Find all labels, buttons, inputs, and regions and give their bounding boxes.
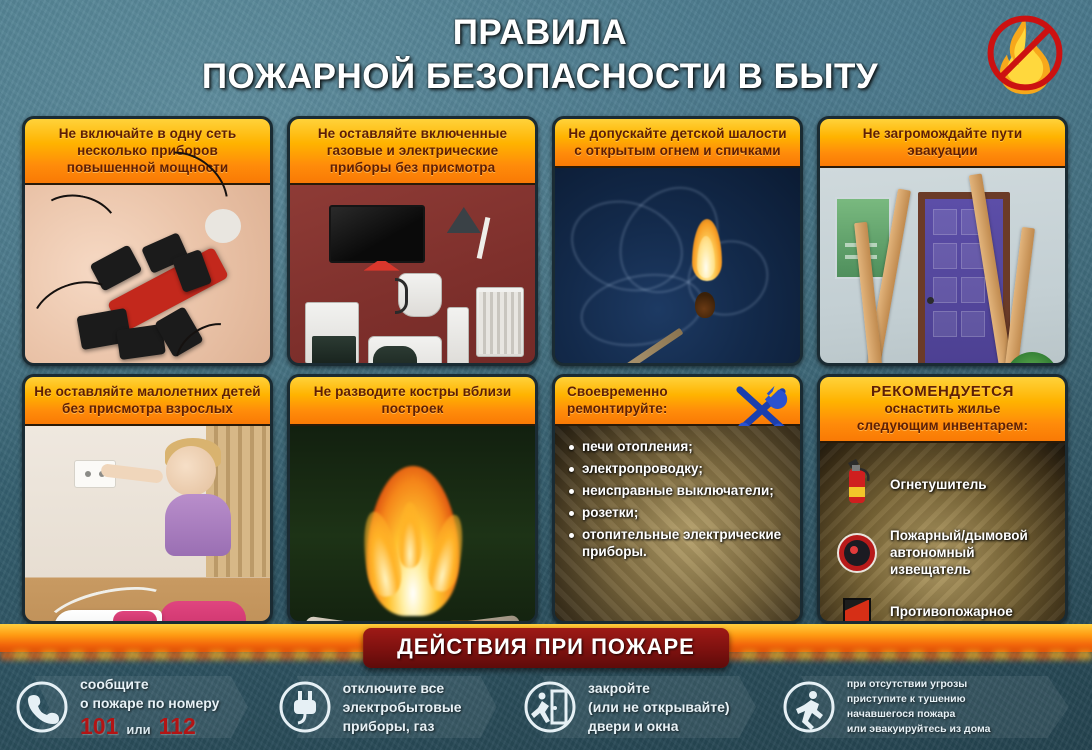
bullet-icon <box>569 533 574 538</box>
exit-door-icon <box>522 679 578 735</box>
card-title: Не загромождайте пути эвакуации <box>820 119 1065 168</box>
card-no-blocked-exits[interactable]: Не загромождайте пути эвакуации <box>817 116 1068 366</box>
tv-icon <box>329 205 425 263</box>
card-title-area: Своевременно ремонтируйте: <box>555 377 800 426</box>
card-title-line-3: следующим инвентарем: <box>828 417 1057 434</box>
list-item: печи отопления; <box>569 438 790 455</box>
card-title: Не оставляйте малолетних детей без присм… <box>25 377 270 426</box>
card-image-area <box>25 426 270 624</box>
foot-call-line-1: сообщите <box>80 675 219 694</box>
fire-extinguisher-icon <box>834 457 880 511</box>
list-item: отопительные электрические приборы. <box>569 526 790 560</box>
list-item-label: розетки; <box>582 504 638 521</box>
conjunction-label: или <box>126 720 150 739</box>
foot-call-text: сообщите о пожаре по номеру 101 или 112 <box>80 675 219 739</box>
list-item: Пожарный/дымовой автономный извещатель <box>834 525 1055 579</box>
foot-close-line-3: двери и окна <box>588 717 729 736</box>
card-title-area: РЕКОМЕНДУЕТСЯ оснастить жилье следующим … <box>820 377 1065 443</box>
card-title: Не оставляйте включенные газовые и элект… <box>290 119 535 185</box>
overloaded-power-strip-photo <box>25 185 270 366</box>
foot-close-line-1: закройте <box>588 679 729 698</box>
card-image-area <box>820 168 1065 366</box>
rules-grid: Не включайте в одну сеть несколько прибо… <box>22 116 1070 624</box>
foot-unplug-line-1: отключите все <box>343 679 462 698</box>
fire-blanket-icon <box>834 593 880 624</box>
list-item-label: печи отопления; <box>582 438 693 455</box>
blocked-doorway-photo <box>820 168 1065 366</box>
list-item: неисправные выключатели; <box>569 482 790 499</box>
list-item-label: Пожарный/дымовой автономный извещатель <box>890 527 1055 578</box>
bonfire-photo <box>290 426 535 624</box>
bullet-icon <box>569 445 574 450</box>
list-item-label: отопительные электрические приборы. <box>582 526 790 560</box>
list-item: розетки; <box>569 504 790 521</box>
foot-evacuate[interactable]: при отсутствии угрозы приступите к тушен… <box>767 669 1092 745</box>
card-no-unattended-children[interactable]: Не оставляйте малолетних детей без присм… <box>22 374 273 624</box>
heater-icon <box>447 307 469 366</box>
child-at-socket-photo <box>25 426 270 624</box>
bullet-icon <box>569 511 574 516</box>
foot-call-line-2: о пожаре по номеру <box>80 694 219 713</box>
emergency-number-1: 101 <box>80 713 118 739</box>
list-item-label: неисправные выключатели; <box>582 482 774 499</box>
smoke-detector-icon <box>834 525 880 579</box>
foot-close-doors[interactable]: закройте (или не открывайте) двери и окн… <box>508 669 767 745</box>
page-title: ПРАВИЛА ПОЖАРНОЙ БЕЗОПАСНОСТИ В БЫТУ <box>120 12 960 100</box>
card-recommended-inventory[interactable]: РЕКОМЕНДУЕТСЯ оснастить жилье следующим … <box>817 374 1068 624</box>
inventory-list: Огнетушитель Пожарный/дымовой автономный <box>820 443 1065 624</box>
poster-header: ПРАВИЛА ПОЖАРНОЙ БЕЗОПАСНОСТИ В БЫТУ <box>0 0 1092 112</box>
card-title: Не разводите костры вблизи построек <box>290 377 535 426</box>
list-item: Противопожарное полотно <box>834 593 1055 624</box>
card-title-line-2: оснастить жилье <box>828 400 1057 417</box>
card-image-area <box>290 426 535 624</box>
foot-unplug-line-3: приборы, газ <box>343 717 462 736</box>
list-item-label: Огнетушитель <box>890 476 987 493</box>
card-image-area <box>555 168 800 366</box>
card-image-area: Огнетушитель Пожарный/дымовой автономный <box>820 443 1065 624</box>
card-no-unattended-appliances[interactable]: Не оставляйте включенные газовые и элект… <box>287 116 538 366</box>
running-person-icon <box>781 679 837 735</box>
repair-list: печи отопления; электропроводку; неиспра… <box>555 426 800 624</box>
phone-icon <box>14 679 70 735</box>
card-timely-repair[interactable]: Своевременно ремонтируйте: <box>552 374 803 624</box>
emergency-number-2: 112 <box>159 713 196 739</box>
card-title: Своевременно ремонтируйте: <box>567 384 668 416</box>
foot-close-doors-text: закройте (или не открывайте) двери и окн… <box>588 679 729 736</box>
foot-call[interactable]: сообщите о пожаре по номеру 101 или 112 <box>0 669 263 745</box>
list-item: Огнетушитель <box>834 457 1055 511</box>
actions-banner: ДЕЙСТВИЯ ПРИ ПОЖАРЕ <box>363 628 729 668</box>
no-fire-icon <box>982 8 1068 98</box>
burning-match-photo <box>555 168 800 366</box>
card-no-children-with-fire[interactable]: Не допускайте детской шалости с открытым… <box>552 116 803 366</box>
list-item-label: электропроводку; <box>582 460 703 477</box>
card-title: Не допускайте детской шалости с открытым… <box>555 119 800 168</box>
foot-evacuate-line-1: при отсутствии угрозы <box>847 677 991 692</box>
card-image-area: печи отопления; электропроводку; неиспра… <box>555 426 800 624</box>
card-image-area <box>25 185 270 366</box>
plug-icon <box>277 679 333 735</box>
foot-evacuate-line-4: или эвакуируйтесь из дома <box>847 722 991 737</box>
household-appliances-photo <box>290 185 535 366</box>
foot-evacuate-line-3: начавшегося пожара <box>847 707 991 722</box>
foot-evacuate-text: при отсутствии угрозы приступите к тушен… <box>847 677 991 737</box>
list-item: электропроводку; <box>569 460 790 477</box>
title-line-2: ПОЖАРНОЙ БЕЗОПАСНОСТИ В БЫТУ <box>120 54 960 100</box>
card-title-line-1: РЕКОМЕНДУЕТСЯ <box>828 383 1057 400</box>
card-no-bonfires[interactable]: Не разводите костры вблизи построек <box>287 374 538 624</box>
bullet-icon <box>569 489 574 494</box>
card-image-area <box>290 185 535 366</box>
list-item-label: Противопожарное полотно <box>890 603 1055 624</box>
foot-unplug-text: отключите все электробытовые приборы, га… <box>343 679 462 736</box>
bullet-icon <box>569 467 574 472</box>
foot-close-line-2: (или не открывайте) <box>588 698 729 717</box>
poster-footer: сообщите о пожаре по номеру 101 или 112 … <box>0 664 1092 750</box>
foot-unplug-line-2: электробытовые <box>343 698 462 717</box>
card-no-multiple-appliances[interactable]: Не включайте в одну сеть несколько прибо… <box>22 116 273 366</box>
foot-evacuate-line-2: приступите к тушению <box>847 692 991 707</box>
foot-unplug[interactable]: отключите все электробытовые приборы, га… <box>263 669 508 745</box>
fire-safety-poster: ПРАВИЛА ПОЖАРНОЙ БЕЗОПАСНОСТИ В БЫТУ Не … <box>0 0 1092 750</box>
title-line-1: ПРАВИЛА <box>120 12 960 54</box>
emergency-numbers: 101 или 112 <box>80 713 219 739</box>
